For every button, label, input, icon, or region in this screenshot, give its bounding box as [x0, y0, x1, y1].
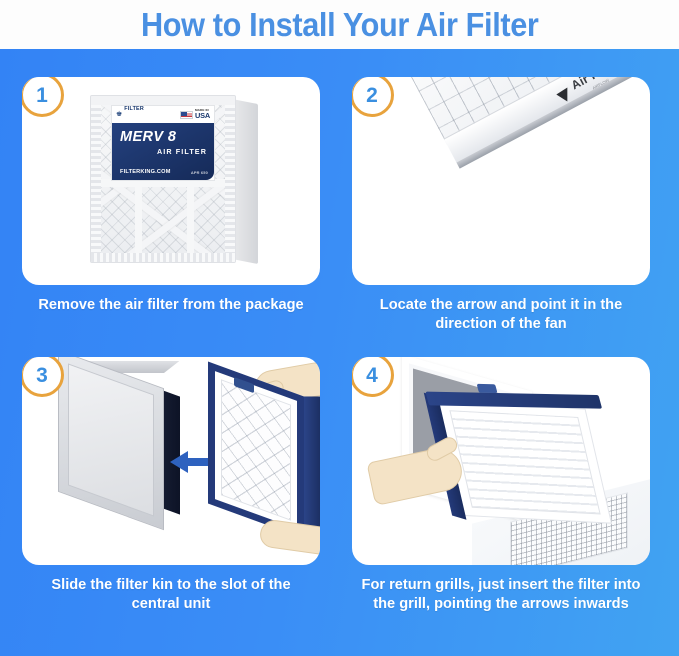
step-1-number: 1 — [36, 85, 48, 106]
filter-bottom-edge — [91, 253, 235, 262]
step-3-number: 3 — [36, 365, 48, 386]
step-2-image-card: Air Filter AIRFLOW 2 — [352, 77, 650, 285]
unit-inner-panel — [68, 363, 154, 516]
page-header: How to Install Your Air Filter — [0, 0, 679, 49]
made-in-usa-mark: MADE IN USA — [180, 109, 210, 120]
step-3-illustration — [22, 357, 320, 565]
step-1-image-card: ♚ FILTER KING — [22, 77, 320, 285]
filter-arrow-tab — [477, 384, 498, 393]
label-navy-panel: MERV 8 AIR FILTER FILTERKING.COM APR 650 — [112, 123, 214, 180]
label-footer-row: FILTERKING.COM APR 650 — [120, 169, 208, 175]
brand-line-1: FILTER — [124, 106, 144, 112]
filter-left-edge — [91, 96, 101, 262]
steps-board: ♚ FILTER KING — [0, 49, 679, 656]
step-card-4: 4 For return grills, just insert the fil… — [352, 357, 650, 615]
website-text: FILTERKING.COM — [120, 169, 171, 175]
merv-filter-graphic: ♚ FILTER KING — [84, 91, 264, 271]
usa-text-block: MADE IN USA — [195, 109, 210, 120]
filter-side-depth — [304, 396, 320, 538]
step-2-illustration: Air Filter AIRFLOW — [352, 77, 650, 285]
angled-filter-graphic: Air Filter AIRFLOW — [378, 77, 650, 200]
filter-product-label: ♚ FILTER KING — [111, 105, 215, 181]
usa-flag-icon — [180, 111, 193, 119]
step-2-number: 2 — [366, 85, 378, 106]
filter-right-edge — [225, 96, 235, 262]
step-1-illustration: ♚ FILTER KING — [22, 77, 320, 285]
step-1-caption: Remove the air filter from the package — [22, 296, 320, 315]
step-4-illustration — [352, 357, 650, 565]
airflow-arrow-icon — [556, 87, 567, 101]
filter-top-edge — [91, 96, 235, 105]
filter-front-face: ♚ FILTER KING — [90, 95, 236, 263]
step-3-caption: Slide the filter kin to the slot of the … — [22, 576, 320, 615]
apr-rating-text: APR 650 — [191, 170, 208, 175]
step-2-caption: Locate the arrow and point it in the dir… — [352, 296, 650, 335]
steps-grid: ♚ FILTER KING — [0, 49, 679, 656]
step-card-3: 3 Slide the filter kin to the slot of th… — [22, 357, 320, 615]
central-unit-face — [58, 357, 164, 530]
step-card-2: Air Filter AIRFLOW 2 Locate the arrow an… — [352, 77, 650, 335]
step-3-image-card: 3 — [22, 357, 320, 565]
hinged-grill-door — [438, 401, 612, 524]
step-4-number: 4 — [366, 365, 378, 386]
country-text: USA — [195, 112, 210, 119]
step-4-image-card: 4 — [352, 357, 650, 565]
grill-louvers — [449, 410, 600, 514]
infographic-page: How to Install Your Air Filter — [0, 0, 679, 656]
label-header-row: ♚ FILTER KING — [112, 106, 214, 123]
crown-icon: ♚ — [116, 111, 122, 118]
merv-rating-text: MERV 8 — [120, 130, 207, 145]
step-4-caption: For return grills, just insert the filte… — [352, 576, 650, 615]
page-title: How to Install Your Air Filter — [141, 6, 539, 44]
step-card-1: ♚ FILTER KING — [22, 77, 320, 315]
label-subtitle-text: AIR FILTER — [120, 147, 207, 156]
grill-body — [438, 401, 612, 524]
